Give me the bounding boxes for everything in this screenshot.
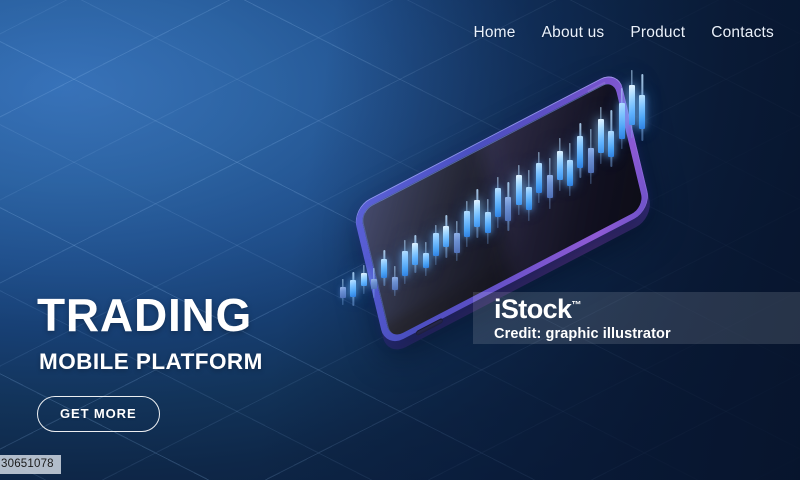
- watermark-credit: Credit: graphic illustrator: [494, 327, 671, 342]
- page-subtitle: MOBILE PLATFORM: [39, 351, 263, 374]
- landing-page: Home About us Product Contacts TRADING M…: [0, 0, 800, 480]
- nav-link-contacts[interactable]: Contacts: [711, 24, 774, 42]
- istock-logo: iStock™: [494, 296, 581, 323]
- hero-content: TRADING MOBILE PLATFORM GET MORE: [37, 292, 263, 432]
- asset-id-badge: 30651078: [0, 455, 61, 474]
- main-navigation: Home About us Product Contacts: [473, 24, 774, 42]
- get-more-button[interactable]: GET MORE: [37, 396, 160, 432]
- page-title: TRADING: [37, 292, 263, 338]
- nav-link-about-us[interactable]: About us: [542, 24, 605, 42]
- nav-link-product[interactable]: Product: [630, 24, 685, 42]
- istock-logo-text: iStock: [494, 294, 571, 324]
- nav-link-home[interactable]: Home: [473, 24, 515, 42]
- trademark-icon: ™: [571, 300, 581, 311]
